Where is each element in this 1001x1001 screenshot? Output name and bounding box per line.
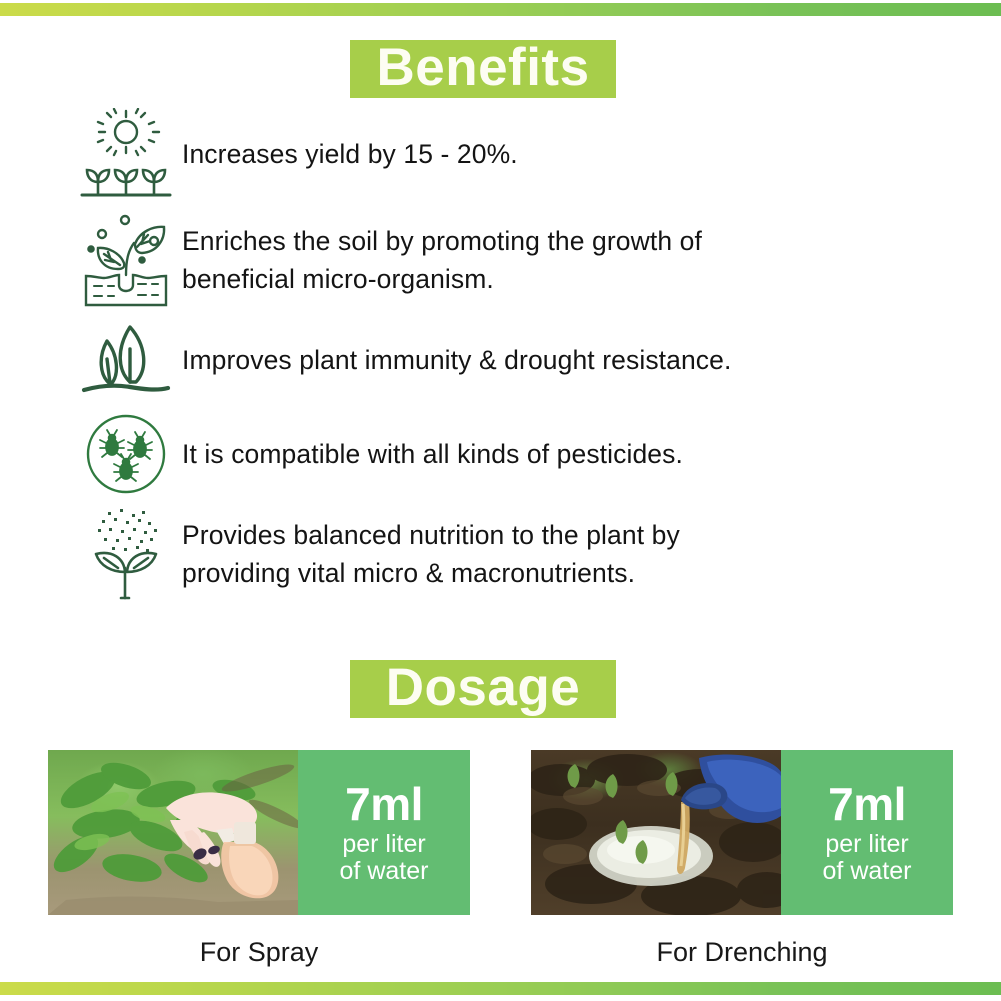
dosage-line-1: per liter [825, 831, 908, 858]
dosage-cards: 7ml per liter of water For Spray [48, 750, 953, 968]
benefit-text: Provides balanced nutrition to the plant… [182, 516, 680, 593]
dosage-amount: 7ml [345, 781, 423, 827]
benefit-item: Enriches the soil by promoting the growt… [70, 210, 950, 310]
dosage-heading-badge: Dosage [350, 660, 616, 718]
benefits-heading-text: Benefits [376, 41, 589, 98]
dosage-caption: For Spray [48, 937, 470, 968]
dosage-caption: For Drenching [531, 937, 953, 968]
dosage-amount: 7ml [828, 781, 906, 827]
dosage-line-2: of water [823, 858, 912, 885]
dosage-heading-text: Dosage [386, 661, 580, 718]
watering-can-drenching-soil-photo [531, 750, 781, 915]
dosage-card-drenching: 7ml per liter of water For Drenching [531, 750, 953, 968]
dosage-card-spray: 7ml per liter of water For Spray [48, 750, 470, 968]
dosage-panel: 7ml per liter of water [298, 750, 470, 915]
hand-spraying-plants-photo [48, 750, 298, 915]
sun-over-sprouts-icon [70, 104, 182, 204]
benefit-item: Improves plant immunity & drought resist… [70, 316, 950, 404]
benefits-heading-badge: Benefits [350, 40, 616, 98]
dosage-card-visual: 7ml per liter of water [48, 750, 470, 915]
dosage-panel: 7ml per liter of water [781, 750, 953, 915]
two-leaves-on-ground-icon [70, 316, 182, 404]
benefit-item: It is compatible with all kinds of pesti… [70, 410, 950, 498]
bottom-accent-bar [0, 982, 1001, 995]
top-accent-bar [0, 3, 1001, 16]
sprout-with-nutrients-icon [70, 504, 182, 604]
benefit-text: Enriches the soil by promoting the growt… [182, 222, 702, 299]
benefits-list: Increases yield by 15 - 20%. [70, 104, 950, 610]
benefit-item: Increases yield by 15 - 20%. [70, 104, 950, 204]
dosage-card-visual: 7ml per liter of water [531, 750, 953, 915]
dosage-line-2: of water [340, 858, 429, 885]
dosage-line-1: per liter [342, 831, 425, 858]
benefit-item: Provides balanced nutrition to the plant… [70, 504, 950, 604]
plant-in-soil-microorganism-icon [70, 210, 182, 310]
benefit-text: It is compatible with all kinds of pesti… [182, 435, 683, 473]
benefit-text: Improves plant immunity & drought resist… [182, 341, 731, 379]
benefit-text: Increases yield by 15 - 20%. [182, 135, 518, 173]
insects-in-circle-icon [70, 410, 182, 498]
